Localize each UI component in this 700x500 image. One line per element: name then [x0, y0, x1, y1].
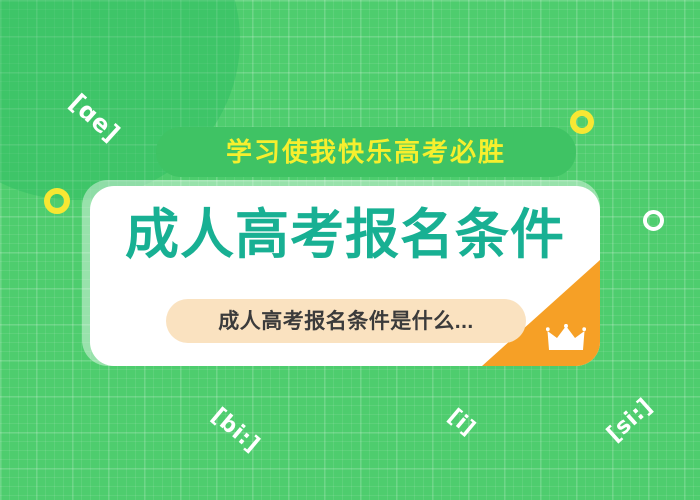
- main-card: 成人高考报名条件 成人高考报名条件是什么...: [90, 186, 600, 366]
- crown-icon: [546, 324, 586, 352]
- subtitle-pill: 成人高考报名条件是什么...: [166, 299, 526, 343]
- page-title: 成人高考报名条件: [90, 208, 600, 262]
- decorative-ring-white-right: [643, 210, 664, 231]
- decorative-ring-yellow-top: [570, 110, 594, 134]
- slogan-banner-text: 学习使我快乐高考必胜: [226, 139, 506, 165]
- subtitle-text: 成人高考报名条件是什么...: [218, 311, 474, 332]
- decorative-ring-yellow-left: [44, 188, 70, 214]
- poster-canvas: [ɑe] [bi:] [i] [si:] 学习使我快乐高考必胜 成人高考报名条件…: [0, 0, 700, 500]
- slogan-banner: 学习使我快乐高考必胜: [156, 127, 576, 177]
